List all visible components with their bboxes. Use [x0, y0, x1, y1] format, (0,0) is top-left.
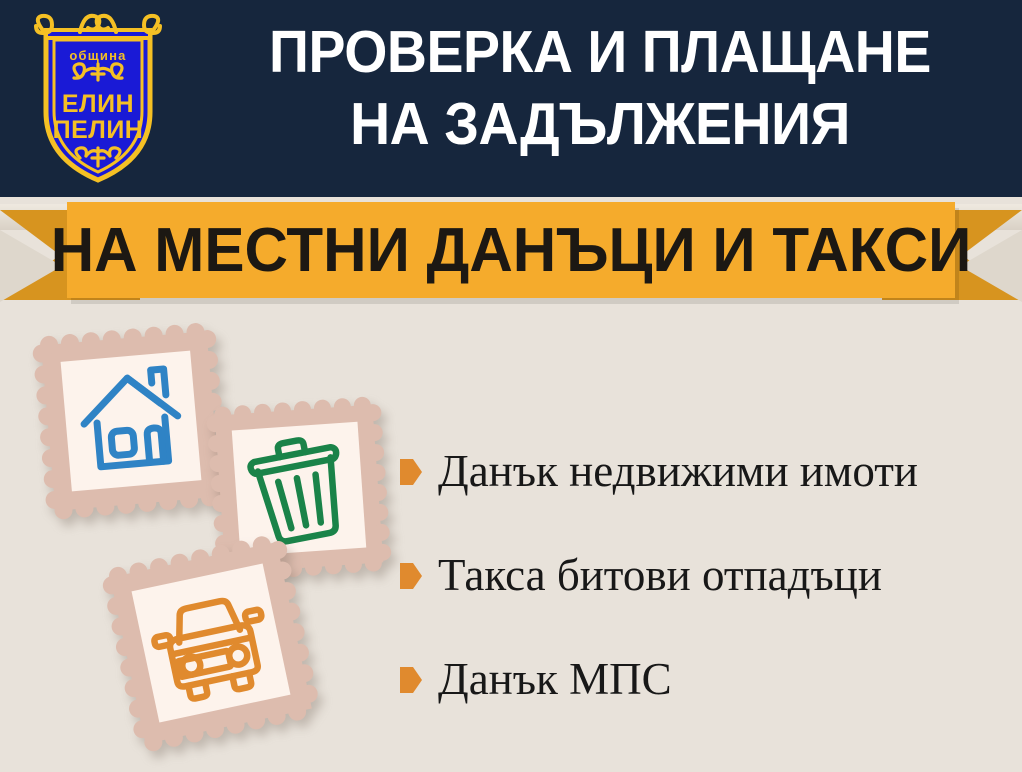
- stamp-paper: [61, 351, 202, 492]
- stamp-card-vehicle-tax: [96, 528, 326, 758]
- list-item[interactable]: Такса битови отпадъци: [400, 524, 1010, 628]
- ribbon-subtitle: НА МЕСТНИ ДАНЪЦИ И ТАКСИ: [80, 202, 941, 298]
- tax-type-list: Данък недвижими имоти Такса битови отпад…: [400, 420, 1010, 732]
- arrow-bullet-icon: [400, 563, 422, 589]
- logo-name-line1: ЕЛИН: [62, 90, 134, 118]
- list-item-label: Данък МПС: [438, 656, 672, 703]
- logo-top-text: община: [69, 48, 126, 63]
- arrow-bullet-icon: [400, 459, 422, 485]
- page-title: ПРОВЕРКА И ПЛАЩАНЕ НА ЗАДЪЛЖЕНИЯ: [211, 16, 989, 160]
- list-item-label: Такса битови отпадъци: [438, 552, 882, 599]
- municipality-logo: община ЕЛИН ПЕЛИН: [22, 8, 174, 184]
- header-banner: община ЕЛИН ПЕЛИН: [0, 0, 1022, 197]
- poster-canvas: община ЕЛИН ПЕЛИН: [0, 0, 1022, 772]
- logo-name-line2: ПЕЛИН: [53, 116, 144, 144]
- ribbon-banner: НА МЕСТНИ ДАНЪЦИ И ТАКСИ: [0, 196, 1022, 308]
- list-item[interactable]: Данък МПС: [400, 628, 1010, 732]
- list-item-label: Данък недвижими имоти: [438, 448, 918, 495]
- list-item[interactable]: Данък недвижими имоти: [400, 420, 1010, 524]
- arrow-bullet-icon: [400, 667, 422, 693]
